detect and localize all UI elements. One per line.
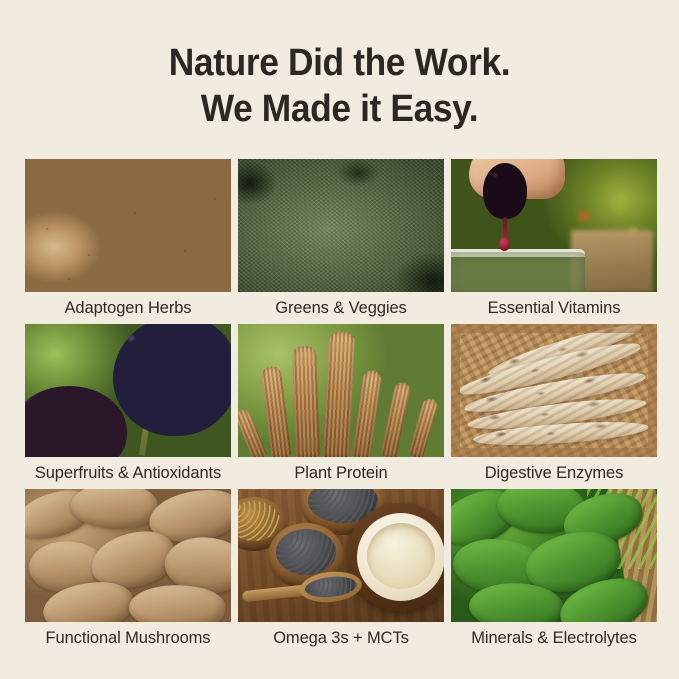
headline-line-2: We Made it Easy. xyxy=(24,86,655,132)
promo-poster: Nature Did the Work. We Made it Easy. Ad… xyxy=(0,0,679,679)
coconut-water-shape xyxy=(367,523,435,589)
drinking-glass-shape xyxy=(451,249,585,292)
mushroom-frond-shape xyxy=(69,489,159,533)
chia-seeds-shape xyxy=(276,529,336,575)
caption-minerals-electrolytes: Minerals & Electrolytes xyxy=(451,622,657,654)
caption-adaptogen-herbs: Adaptogen Herbs xyxy=(25,292,231,324)
juice-drip-shape xyxy=(503,217,507,239)
thumbnail-functional-mushrooms[interactable] xyxy=(25,489,231,622)
chia-seeds-and-coconut-photo xyxy=(238,489,444,622)
juice-droplet-shape xyxy=(499,237,510,251)
grid-item-plant-protein[interactable]: Plant Protein xyxy=(238,324,444,489)
grid-item-adaptogen-herbs[interactable]: Adaptogen Herbs xyxy=(25,159,231,324)
thumbnail-essential-vitamins[interactable] xyxy=(451,159,657,292)
grid-item-digestive-enzymes[interactable]: Digestive Enzymes xyxy=(451,324,657,489)
grid-item-greens-veggies[interactable]: Greens & Veggies xyxy=(238,159,444,324)
page-title: Nature Did the Work. We Made it Easy. xyxy=(24,40,655,132)
caption-greens-veggies: Greens & Veggies xyxy=(238,292,444,324)
thumbnail-superfruits-antioxidants[interactable] xyxy=(25,324,231,457)
texture-overlay xyxy=(25,159,231,292)
seed-head-shape xyxy=(352,369,382,457)
caption-digestive-enzymes: Digestive Enzymes xyxy=(451,457,657,489)
seed-head-shape xyxy=(380,381,411,457)
grid-item-omega-3s-mcts[interactable]: Omega 3s + MCTs xyxy=(238,489,444,654)
amaranth-seed-heads-photo xyxy=(238,324,444,457)
thumbnail-greens-veggies[interactable] xyxy=(238,159,444,292)
caption-omega-3s-mcts: Omega 3s + MCTs xyxy=(238,622,444,654)
acai-cluster-shape xyxy=(25,386,127,457)
shadow-overlay xyxy=(238,159,444,292)
dried-adaptogen-roots-photo xyxy=(25,159,231,292)
blackberry-shape xyxy=(483,163,527,219)
thumbnail-plant-protein[interactable] xyxy=(238,324,444,457)
caption-plant-protein: Plant Protein xyxy=(238,457,444,489)
hand-squeezing-blackberry-photo xyxy=(451,159,657,292)
acai-cluster-shape xyxy=(113,324,231,436)
wooden-spoon-shape xyxy=(241,569,363,611)
maitake-mushrooms-photo xyxy=(25,489,231,622)
grid-item-superfruits-antioxidants[interactable]: Superfruits & Antioxidants xyxy=(25,324,231,489)
thumbnail-digestive-enzymes[interactable] xyxy=(451,324,657,457)
ingredient-grid: Adaptogen Herbs Greens & Veggies xyxy=(25,159,658,654)
caption-functional-mushrooms: Functional Mushrooms xyxy=(25,622,231,654)
caption-essential-vitamins: Essential Vitamins xyxy=(451,292,657,324)
thumbnail-adaptogen-herbs[interactable] xyxy=(25,159,231,292)
seed-head-shape xyxy=(238,407,267,457)
grid-item-functional-mushrooms[interactable]: Functional Mushrooms xyxy=(25,489,231,654)
seed-head-shape xyxy=(323,331,356,457)
fresh-spinach-leaves-photo xyxy=(451,489,657,622)
grid-item-essential-vitamins[interactable]: Essential Vitamins xyxy=(451,159,657,324)
green-powder-photo xyxy=(238,159,444,292)
acai-berry-clusters-photo xyxy=(25,324,231,457)
white-roots-in-basket-photo xyxy=(451,324,657,457)
thumbnail-minerals-electrolytes[interactable] xyxy=(451,489,657,622)
seed-head-shape xyxy=(260,365,291,457)
headline-line-1: Nature Did the Work. xyxy=(24,40,655,86)
seed-head-shape xyxy=(292,346,320,457)
thumbnail-omega-3s-mcts[interactable] xyxy=(238,489,444,622)
grid-item-minerals-electrolytes[interactable]: Minerals & Electrolytes xyxy=(451,489,657,654)
basket-weave-overlay xyxy=(451,324,657,457)
seed-head-shape xyxy=(408,397,439,457)
caption-superfruits-antioxidants: Superfruits & Antioxidants xyxy=(25,457,231,489)
